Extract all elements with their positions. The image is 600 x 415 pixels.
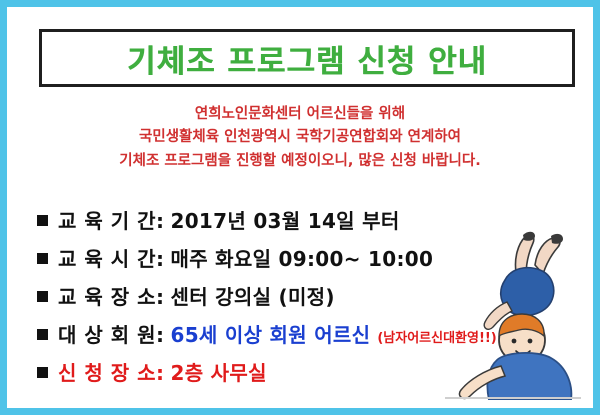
list-item: 신 청 장 소: 2층 사무실: [37, 357, 577, 386]
item-label: 대 상 회 원:: [58, 319, 165, 348]
intro-line-1: 연희노인문화센터 어르신들을 위해: [7, 103, 593, 126]
poster-inner: 기체조 프로그램 신청 안내 연희노인문화센터 어르신들을 위해 국민생활체육 …: [7, 7, 593, 408]
item-value: 2017년 03월 14일 부터: [171, 205, 400, 234]
poster: 기체조 프로그램 신청 안내 연희노인문화센터 어르신들을 위해 국민생활체육 …: [0, 0, 600, 415]
item-note: (남자어르신대환영!!): [377, 327, 496, 346]
intro-paragraph: 연희노인문화센터 어르신들을 위해 국민생활체육 인천광역시 국학기공연합회와 …: [7, 103, 593, 173]
title-box: 기체조 프로그램 신청 안내: [39, 29, 575, 87]
list-item: 교 육 시 간: 매주 화요일 09:00~ 10:00: [37, 243, 577, 272]
list-item: 대 상 회 원: 65세 이상 회원 어르신 (남자어르신대환영!!): [37, 319, 577, 348]
item-value: 센터 강의실 (미정): [171, 281, 335, 310]
intro-line-2: 국민생활체육 인천광역시 국학기공연합회와 연계하여: [7, 126, 593, 149]
item-value: 2층 사무실: [171, 357, 267, 386]
square-bullet-icon: [37, 215, 48, 226]
item-label: 교 육 장 소:: [58, 281, 165, 310]
item-label: 교 육 시 간:: [58, 243, 165, 272]
square-bullet-icon: [37, 367, 48, 378]
page-title: 기체조 프로그램 신청 안내: [127, 36, 487, 81]
square-bullet-icon: [37, 253, 48, 264]
item-value: 65세 이상 회원 어르신: [171, 319, 371, 348]
list-item: 교 육 장 소: 센터 강의실 (미정): [37, 281, 577, 310]
details-list: 교 육 기 간: 2017년 03월 14일 부터 교 육 시 간: 매주 화요…: [37, 205, 577, 395]
intro-line-3: 기체조 프로그램을 진행할 예정이오니, 많은 신청 바랍니다.: [7, 150, 593, 173]
item-label: 교 육 기 간:: [58, 205, 165, 234]
item-label: 신 청 장 소:: [58, 357, 165, 386]
square-bullet-icon: [37, 329, 48, 340]
item-value: 매주 화요일 09:00~ 10:00: [171, 243, 434, 272]
square-bullet-icon: [37, 291, 48, 302]
list-item: 교 육 기 간: 2017년 03월 14일 부터: [37, 205, 577, 234]
